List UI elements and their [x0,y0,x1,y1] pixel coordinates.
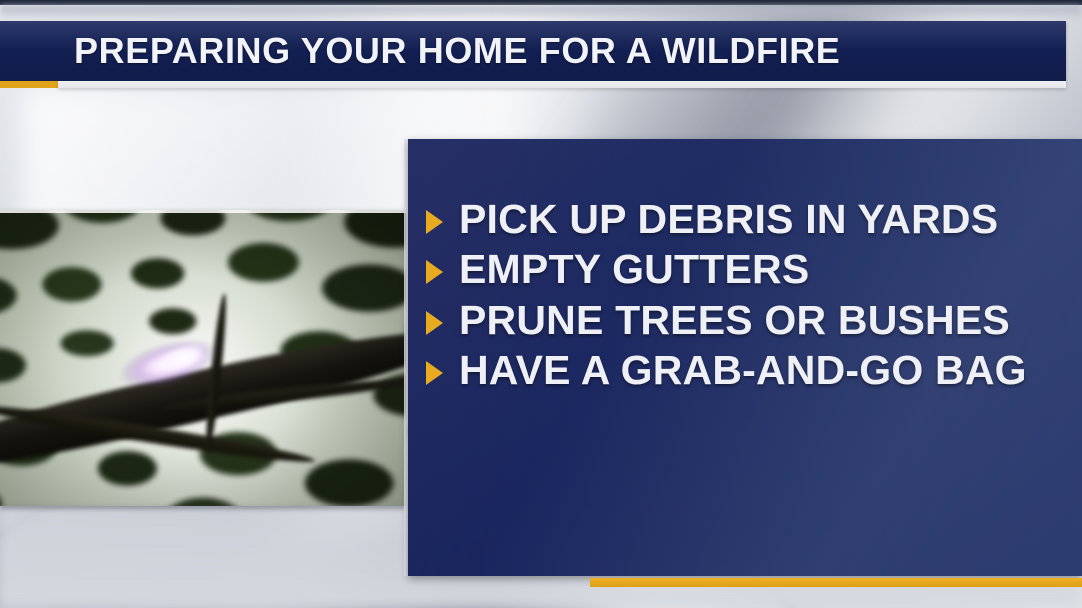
headline-gold-accent [0,81,58,88]
thumbnail-drop-shadow [0,506,406,511]
triangle-bullet-icon [426,260,443,284]
list-item-label: PRUNE TREES OR BUSHES [459,298,1010,342]
list-item: HAVE A GRAB-AND-GO BAG [426,348,1076,392]
triangle-bullet-icon [426,311,443,335]
list-item: PRUNE TREES OR BUSHES [426,298,1076,342]
broadcast-graphic: PREPARING YOUR HOME FOR A WILDFIRE PICK … [0,0,1082,608]
list-item-label: HAVE A GRAB-AND-GO BAG [459,348,1027,392]
page-title: PREPARING YOUR HOME FOR A WILDFIRE [74,30,840,72]
triangle-bullet-icon [426,361,443,385]
list-item-label: EMPTY GUTTERS [459,247,809,291]
thumbnail-top-border [0,210,406,213]
tips-list: PICK UP DEBRIS IN YARDS EMPTY GUTTERS PR… [426,197,1076,398]
list-item: EMPTY GUTTERS [426,247,1076,291]
headline-white-underline [58,81,1066,88]
list-item-label: PICK UP DEBRIS IN YARDS [459,197,998,241]
thumbnail-vignette [0,210,406,506]
list-item: PICK UP DEBRIS IN YARDS [426,197,1076,241]
panel-gold-accent [590,578,1082,587]
tips-panel: PICK UP DEBRIS IN YARDS EMPTY GUTTERS PR… [408,139,1082,576]
headline-banner: PREPARING YOUR HOME FOR A WILDFIRE [0,21,1066,81]
triangle-bullet-icon [426,210,443,234]
video-thumbnail [0,210,406,506]
top-sheen [0,5,1082,21]
